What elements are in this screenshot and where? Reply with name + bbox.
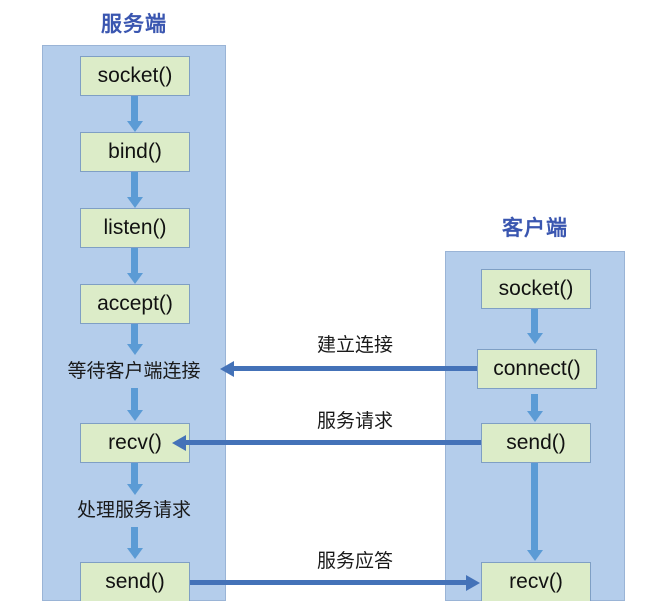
label-server-wait-for-client: 等待客户端连接 — [42, 356, 226, 383]
arrow-server-process-to-send — [131, 527, 138, 549]
server-panel-title: 服务端 — [42, 8, 226, 38]
arrow-establish-connection — [233, 366, 477, 371]
label-service-request: 服务请求 — [235, 406, 475, 433]
node-client-connect[interactable]: connect() — [477, 349, 597, 389]
node-client-recv[interactable]: recv() — [481, 562, 591, 601]
node-server-bind[interactable]: bind() — [80, 132, 190, 172]
arrow-service-request — [185, 440, 481, 445]
arrow-service-response — [190, 580, 467, 585]
node-server-accept[interactable]: accept() — [80, 284, 190, 324]
node-server-socket[interactable]: socket() — [80, 56, 190, 96]
arrow-server-accept-to-wait — [131, 324, 138, 345]
node-server-send[interactable]: send() — [80, 562, 190, 601]
arrow-client-connect-to-send — [531, 394, 538, 412]
arrow-client-send-to-recv — [531, 463, 538, 551]
arrow-server-bind-to-listen — [131, 172, 138, 198]
node-client-socket[interactable]: socket() — [481, 269, 591, 309]
socket-flow-diagram: 服务端 socket() bind() listen() accept() 等待… — [0, 0, 665, 601]
node-server-listen[interactable]: listen() — [80, 208, 190, 248]
label-server-process-request: 处理服务请求 — [42, 495, 226, 522]
arrow-server-wait-to-recv — [131, 388, 138, 411]
arrow-server-recv-to-process — [131, 463, 138, 485]
arrow-server-socket-to-bind — [131, 96, 138, 122]
label-establish-connection: 建立连接 — [235, 330, 475, 357]
arrow-server-listen-to-accept — [131, 248, 138, 274]
node-client-send[interactable]: send() — [481, 423, 591, 463]
client-panel-title: 客户端 — [445, 212, 625, 242]
label-service-response: 服务应答 — [235, 546, 475, 573]
